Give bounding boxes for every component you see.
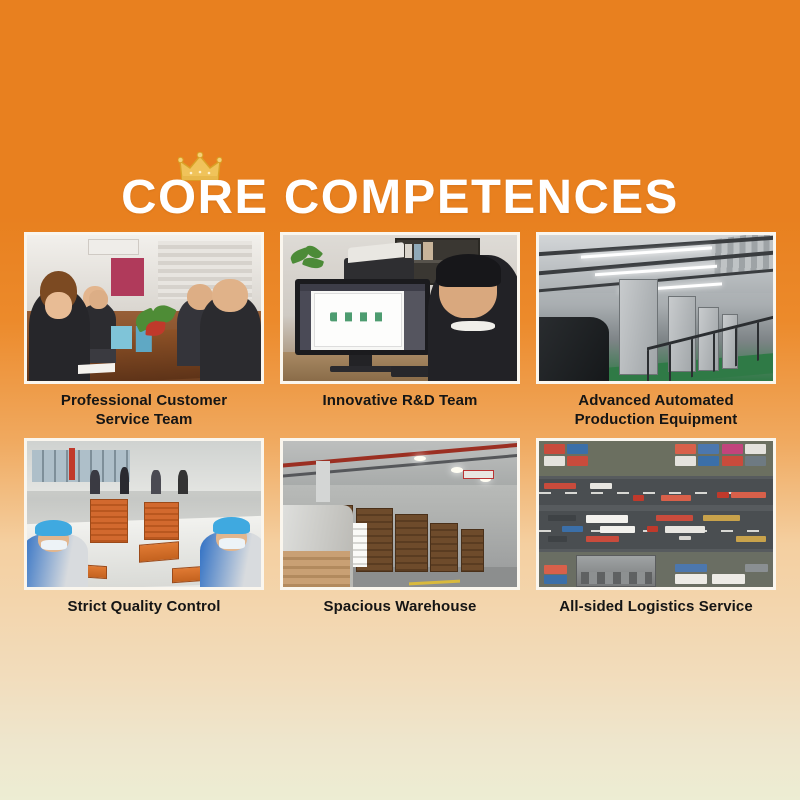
photo-frame: [24, 438, 264, 590]
photo-spacious-warehouse: [283, 441, 517, 587]
competence-card-rd-team[interactable]: Innovative R&D Team: [280, 232, 520, 430]
competence-card-production-equipment[interactable]: Advanced Automated Production Equipment: [536, 232, 776, 430]
competence-card-logistics[interactable]: All-sided Logistics Service: [536, 438, 776, 636]
caption-warehouse: Spacious Warehouse: [280, 598, 520, 636]
caption-production-equipment: Advanced Automated Production Equipment: [536, 392, 776, 430]
title-block: CORE COMPETENCES: [0, 152, 800, 222]
competence-grid: Professional Customer Service Team: [24, 232, 776, 636]
competence-card-quality-control[interactable]: Strict Quality Control: [24, 438, 264, 636]
caption-customer-service: Professional Customer Service Team: [24, 392, 264, 430]
caption-quality-control: Strict Quality Control: [24, 598, 264, 636]
caption-rd-team: Innovative R&D Team: [280, 392, 520, 430]
caption-logistics: All-sided Logistics Service: [536, 598, 776, 636]
core-competences-banner: CORE COMPETENCES Professional Customer S…: [0, 0, 800, 800]
photo-frame: [280, 232, 520, 384]
competence-card-customer-service[interactable]: Professional Customer Service Team: [24, 232, 264, 430]
photo-innovative-rd-team: [283, 235, 517, 381]
photo-frame: [536, 438, 776, 590]
photo-frame: [24, 232, 264, 384]
photo-strict-quality-control: [27, 441, 261, 587]
photo-frame: [280, 438, 520, 590]
photo-frame: [536, 232, 776, 384]
page-title: CORE COMPETENCES: [0, 152, 800, 222]
photo-advanced-automated-production-equipment: [539, 235, 773, 381]
photo-all-sided-logistics-service: [539, 441, 773, 587]
competence-card-warehouse[interactable]: Spacious Warehouse: [280, 438, 520, 636]
photo-professional-customer-service-team: [27, 235, 261, 381]
